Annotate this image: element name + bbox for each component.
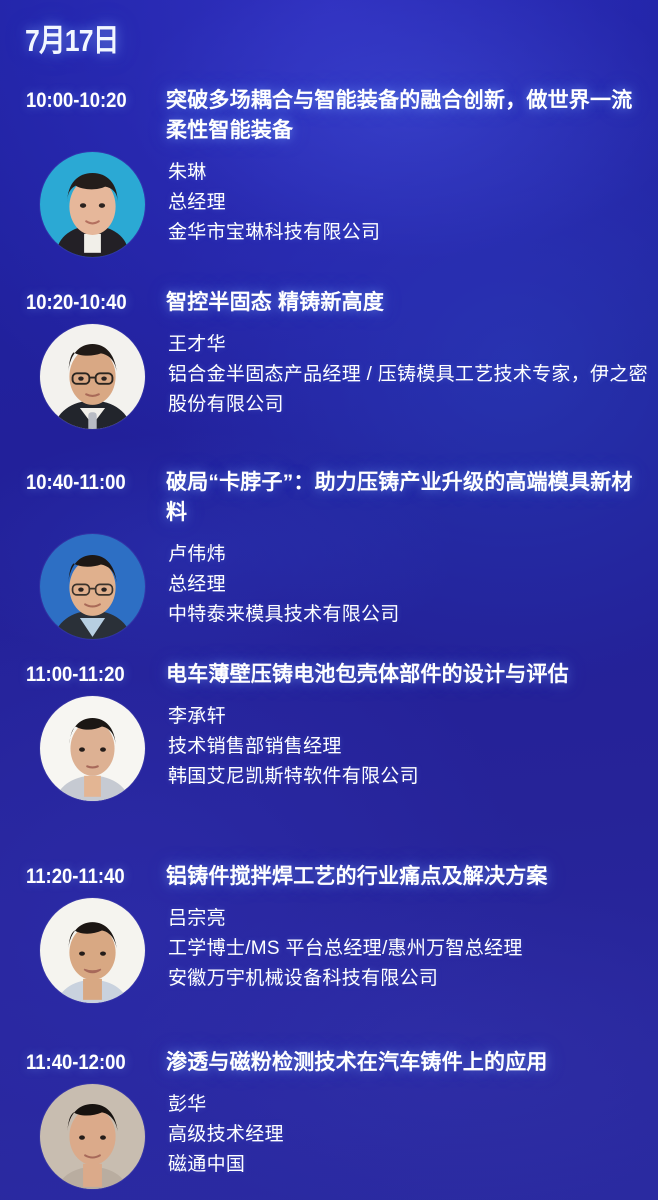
- session-speaker-row: 李承轩 技术销售部销售经理 韩国艾尼凯斯特软件有限公司: [0, 696, 658, 801]
- avatar: [40, 696, 145, 801]
- session-title: 渗透与磁粉检测技术在汽车铸件上的应用: [166, 1048, 648, 1078]
- session-block[interactable]: 11:00-11:20 电车薄壁压铸电池包壳体部件的设计与评估: [0, 660, 658, 801]
- session-time: 11:40-12:00: [26, 1048, 151, 1078]
- session-time: 10:00-10:20: [26, 86, 151, 116]
- schedule-poster: 7月17日 10:00-10:20 突破多场耦合与智能装备的融合创新，做世界一流…: [0, 0, 658, 1200]
- speaker-org: 安徽万宇机械设备科技有限公司: [168, 964, 658, 994]
- session-time: 10:40-11:00: [26, 468, 151, 498]
- session-title: 智控半固态 精铸新高度: [166, 288, 648, 318]
- avatar: [40, 534, 145, 639]
- speaker-role: 总经理: [168, 570, 658, 600]
- speaker-role: 工学博士/MS 平台总经理/惠州万智总经理: [168, 934, 658, 964]
- session-time: 10:20-10:40: [26, 288, 151, 318]
- session-title: 破局“卡脖子”：助力压铸产业升级的高端模具新材料: [166, 468, 648, 528]
- session-header: 11:00-11:20 电车薄壁压铸电池包壳体部件的设计与评估: [0, 660, 658, 690]
- session-time: 11:20-11:40: [26, 862, 151, 892]
- speaker-role: 总经理: [168, 188, 658, 218]
- session-speaker-row: 卢伟炜 总经理 中特泰来模具技术有限公司: [0, 534, 658, 639]
- session-block[interactable]: 10:40-11:00 破局“卡脖子”：助力压铸产业升级的高端模具新材料: [0, 468, 658, 639]
- session-block[interactable]: 11:40-12:00 渗透与磁粉检测技术在汽车铸件上的应用: [0, 1048, 658, 1189]
- speaker-role: 铝合金半固态产品经理 / 压铸模具工艺技术专家，伊之密股份有限公司: [168, 360, 658, 420]
- speaker-org: 韩国艾尼凯斯特软件有限公司: [168, 762, 658, 792]
- speaker-name: 李承轩: [168, 702, 658, 732]
- speaker-org: 金华市宝琳科技有限公司: [168, 218, 658, 248]
- speaker-info: 王才华 铝合金半固态产品经理 / 压铸模具工艺技术专家，伊之密股份有限公司: [168, 324, 658, 420]
- session-block[interactable]: 11:20-11:40 铝铸件搅拌焊工艺的行业痛点及解决方案: [0, 862, 658, 1003]
- session-block[interactable]: 10:20-10:40 智控半固态 精铸新高度: [0, 288, 658, 429]
- session-speaker-row: 朱琳 总经理 金华市宝琳科技有限公司: [0, 152, 658, 257]
- session-title: 突破多场耦合与智能装备的融合创新，做世界一流柔性智能装备: [166, 86, 648, 146]
- avatar: [40, 324, 145, 429]
- speaker-info: 李承轩 技术销售部销售经理 韩国艾尼凯斯特软件有限公司: [168, 696, 658, 792]
- session-title: 电车薄壁压铸电池包壳体部件的设计与评估: [166, 660, 648, 690]
- speaker-name: 王才华: [168, 330, 658, 360]
- speaker-info: 朱琳 总经理 金华市宝琳科技有限公司: [168, 152, 658, 248]
- session-speaker-row: 彭华 高级技术经理 磁通中国: [0, 1084, 658, 1189]
- session-speaker-row: 吕宗亮 工学博士/MS 平台总经理/惠州万智总经理 安徽万宇机械设备科技有限公司: [0, 898, 658, 1003]
- avatar: [40, 1084, 145, 1189]
- speaker-name: 吕宗亮: [168, 904, 658, 934]
- session-block[interactable]: 10:00-10:20 突破多场耦合与智能装备的融合创新，做世界一流柔性智能装备: [0, 86, 658, 257]
- speaker-org: 磁通中国: [168, 1150, 658, 1180]
- session-speaker-row: 王才华 铝合金半固态产品经理 / 压铸模具工艺技术专家，伊之密股份有限公司: [0, 324, 658, 429]
- speaker-role: 高级技术经理: [168, 1120, 658, 1150]
- speaker-info: 彭华 高级技术经理 磁通中国: [168, 1084, 658, 1180]
- session-time: 11:00-11:20: [26, 660, 151, 690]
- speaker-role: 技术销售部销售经理: [168, 732, 658, 762]
- speaker-name: 卢伟炜: [168, 540, 658, 570]
- session-header: 10:00-10:20 突破多场耦合与智能装备的融合创新，做世界一流柔性智能装备: [0, 86, 658, 146]
- session-header: 10:20-10:40 智控半固态 精铸新高度: [0, 288, 658, 318]
- speaker-info: 吕宗亮 工学博士/MS 平台总经理/惠州万智总经理 安徽万宇机械设备科技有限公司: [168, 898, 658, 994]
- avatar: [40, 152, 145, 257]
- avatar: [40, 898, 145, 1003]
- session-header: 11:40-12:00 渗透与磁粉检测技术在汽车铸件上的应用: [0, 1048, 658, 1078]
- speaker-name: 彭华: [168, 1090, 658, 1120]
- session-title: 铝铸件搅拌焊工艺的行业痛点及解决方案: [166, 862, 648, 892]
- page-title: 7月17日: [25, 24, 119, 58]
- speaker-org: 中特泰来模具技术有限公司: [168, 600, 658, 630]
- session-header: 11:20-11:40 铝铸件搅拌焊工艺的行业痛点及解决方案: [0, 862, 658, 892]
- speaker-name: 朱琳: [168, 158, 658, 188]
- session-header: 10:40-11:00 破局“卡脖子”：助力压铸产业升级的高端模具新材料: [0, 468, 658, 528]
- speaker-info: 卢伟炜 总经理 中特泰来模具技术有限公司: [168, 534, 658, 630]
